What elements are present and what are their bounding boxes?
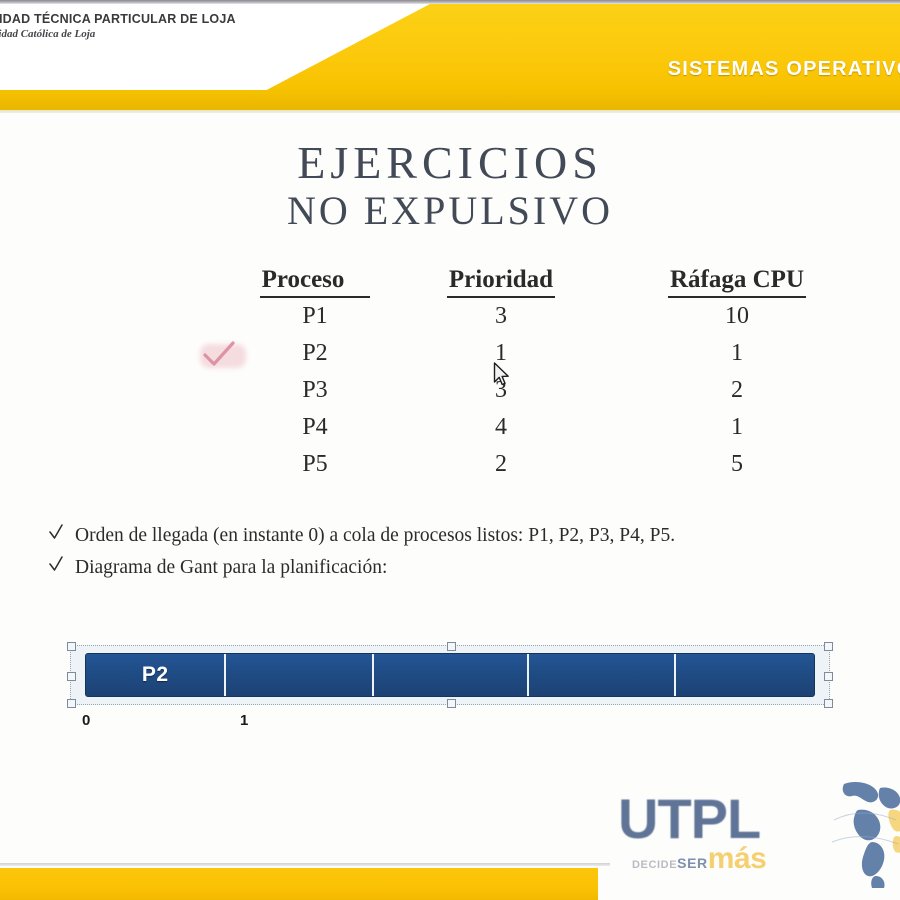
table-row: P5 2 5 bbox=[170, 451, 870, 488]
gantt-segment[interactable]: P2 bbox=[86, 654, 226, 696]
page-title: EJERCICIOS NO EXPULSIVO bbox=[0, 140, 900, 236]
table-row: P2 1 1 bbox=[170, 340, 870, 377]
resize-handle-top-center[interactable] bbox=[447, 642, 456, 651]
cell-proceso: P4 bbox=[240, 414, 390, 441]
resize-handle-top-right[interactable] bbox=[824, 642, 833, 651]
cell-prioridad: 2 bbox=[390, 451, 612, 478]
resize-handle-bottom-center[interactable] bbox=[447, 699, 456, 708]
gantt-segment[interactable] bbox=[374, 654, 529, 696]
table-row: P3 3 2 bbox=[170, 377, 870, 414]
bullet-text: Diagrama de Gant para la planificación: bbox=[75, 552, 387, 584]
slide-header: UNIVERSIDAD TÉCNICA PARTICULAR DE LOJA L… bbox=[0, 0, 900, 113]
cell-rafaga: 5 bbox=[612, 451, 862, 478]
resize-handle-bottom-left[interactable] bbox=[67, 699, 76, 708]
cell-prioridad: 4 bbox=[390, 414, 612, 441]
utpl-logo: UTPL DECIDESERmás bbox=[618, 786, 900, 896]
column-header-proceso-label: Proceso bbox=[260, 266, 371, 298]
title-line-1: EJERCICIOS bbox=[0, 140, 900, 186]
resize-handle-bottom-right[interactable] bbox=[824, 699, 833, 708]
cell-prioridad: 1 bbox=[390, 340, 612, 367]
list-item: Orden de llegada (en instante 0) a cola … bbox=[48, 520, 888, 552]
university-name-line2: La Universidad Católica de Loja bbox=[0, 28, 248, 40]
cell-rafaga: 1 bbox=[612, 414, 862, 441]
cell-proceso: P2 bbox=[240, 340, 390, 367]
cell-prioridad: 3 bbox=[390, 303, 612, 330]
bullet-list: Orden de llegada (en instante 0) a cola … bbox=[48, 520, 888, 583]
resize-handle-middle-left[interactable] bbox=[67, 672, 76, 681]
table-header-row: Proceso Prioridad Ráfaga CPU bbox=[170, 266, 870, 303]
title-line-2: NO EXPULSIVO bbox=[0, 186, 900, 236]
globe-icon bbox=[814, 780, 900, 890]
column-header-prioridad-label: Prioridad bbox=[447, 266, 555, 298]
bullet-text: Orden de llegada (en instante 0) a cola … bbox=[75, 520, 675, 552]
gantt-bar[interactable]: P2 bbox=[85, 653, 815, 697]
tagline-ser: SER bbox=[677, 855, 708, 871]
cell-proceso: P3 bbox=[240, 377, 390, 404]
list-item: Diagrama de Gant para la planificación: bbox=[48, 552, 888, 584]
cell-proceso: P1 bbox=[240, 303, 390, 330]
cell-proceso: P5 bbox=[240, 451, 390, 478]
gantt-axis: 0 1 bbox=[70, 712, 830, 736]
footer-yellow-bar bbox=[0, 868, 598, 900]
check-mark-icon bbox=[202, 340, 236, 368]
column-header-proceso: Proceso bbox=[240, 266, 390, 298]
university-name-line1: UNIVERSIDAD TÉCNICA PARTICULAR DE LOJA bbox=[0, 12, 242, 26]
course-title: SISTEMAS OPERATIVOS bbox=[668, 58, 900, 81]
column-header-rafaga-cpu: Ráfaga CPU bbox=[612, 266, 862, 298]
utpl-tagline: DECIDESERmás bbox=[632, 842, 766, 876]
axis-tick-label: 0 bbox=[82, 712, 90, 729]
column-header-prioridad: Prioridad bbox=[390, 266, 612, 298]
cell-rafaga: 10 bbox=[612, 303, 862, 330]
cell-rafaga: 2 bbox=[612, 377, 862, 404]
cell-prioridad: 3 bbox=[390, 377, 612, 404]
process-table: Proceso Prioridad Ráfaga CPU P1 3 10 bbox=[170, 266, 870, 488]
gantt-segment[interactable] bbox=[529, 654, 677, 696]
gantt-chart[interactable]: P2 bbox=[70, 645, 830, 705]
axis-tick-label: 1 bbox=[240, 712, 248, 729]
resize-handle-top-left[interactable] bbox=[67, 642, 76, 651]
tagline-decide: DECIDE bbox=[632, 859, 677, 871]
gantt-segment-label: P2 bbox=[142, 663, 169, 687]
check-mark-icon bbox=[48, 521, 64, 543]
check-mark-icon bbox=[48, 553, 64, 575]
presentation-slide: UNIVERSIDAD TÉCNICA PARTICULAR DE LOJA L… bbox=[0, 0, 900, 900]
cell-rafaga: 1 bbox=[612, 340, 862, 367]
tagline-mas: más bbox=[708, 842, 767, 875]
column-header-rafaga-cpu-label: Ráfaga CPU bbox=[668, 266, 806, 298]
gantt-segment[interactable] bbox=[226, 654, 374, 696]
gantt-segment[interactable] bbox=[676, 654, 814, 696]
resize-handle-middle-right[interactable] bbox=[824, 672, 833, 681]
footer-rule bbox=[0, 863, 610, 866]
header-bottom-fade bbox=[0, 110, 900, 113]
table-row: P1 3 10 bbox=[170, 303, 870, 340]
slide-body: EJERCICIOS NO EXPULSIVO Proceso Priorida… bbox=[0, 120, 900, 860]
table-row: P4 4 1 bbox=[170, 414, 870, 451]
